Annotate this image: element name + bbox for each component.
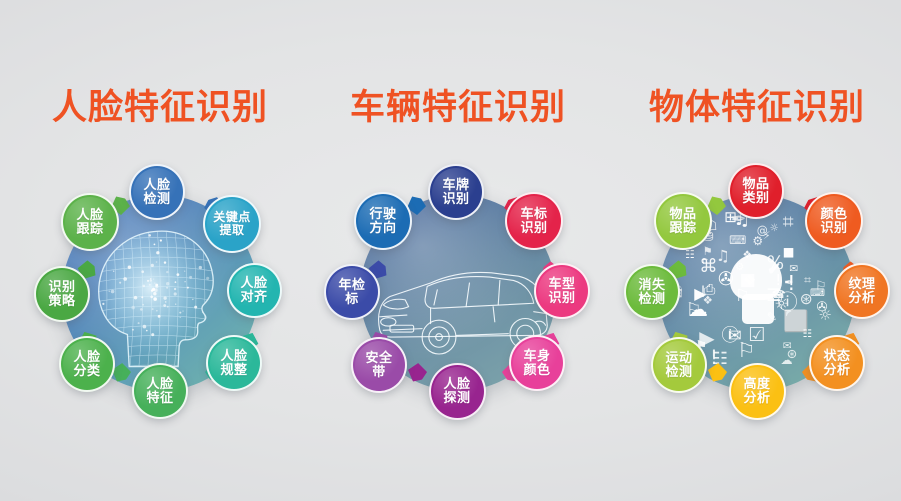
bubble-vehicle-1[interactable]: 行驶 方向 xyxy=(354,192,412,250)
bubble-object-1[interactable]: 物品 跟踪 xyxy=(654,192,712,250)
bubble-label: 车型 识别 xyxy=(546,277,577,305)
bubble-vehicle-3[interactable]: 年检 标 xyxy=(324,264,380,320)
bubble-label: 车牌 识别 xyxy=(440,178,471,206)
cloud-glyph: ☼ xyxy=(770,224,779,234)
bubble-object-5[interactable]: 运动 检测 xyxy=(651,337,707,393)
cloud-glyph: ⊛ xyxy=(800,291,813,307)
bubble-label: 人脸 跟踪 xyxy=(74,208,105,236)
bubble-face-3[interactable]: 识别 策略 xyxy=(34,266,90,322)
bubble-label: 车标 识别 xyxy=(518,207,549,235)
bubble-label: 车身 颜色 xyxy=(521,349,552,377)
bubble-label: 人脸 特征 xyxy=(144,377,175,405)
bubble-object-6[interactable]: 状态 分析 xyxy=(809,335,865,391)
bubble-vehicle-0[interactable]: 车牌 识别 xyxy=(428,164,484,220)
bubble-label: 物品 跟踪 xyxy=(667,207,698,235)
cloud-glyph: ♫ xyxy=(716,249,730,264)
bubble-label: 物品 类别 xyxy=(740,177,771,205)
cloud-glyph: ■ xyxy=(783,246,795,258)
bubble-label: 消失 检测 xyxy=(636,278,667,306)
cloud-glyph: ☷ xyxy=(685,250,695,261)
cloud-glyph: ☼ xyxy=(774,296,788,312)
cloud-glyph: ✉ xyxy=(728,328,742,345)
cloud-glyph: ⚡ xyxy=(763,231,771,242)
bubble-face-1[interactable]: 人脸 跟踪 xyxy=(61,193,119,251)
bubble-label: 人脸 检测 xyxy=(141,178,172,206)
bubble-object-2[interactable]: 颜色 识别 xyxy=(805,192,863,250)
cloud-glyph: ⎙ xyxy=(704,283,715,297)
cloud-glyph: ⌨ xyxy=(729,235,746,247)
cloud-glyph: ▶ xyxy=(699,328,714,348)
bubble-label: 高度 分析 xyxy=(741,377,772,405)
cluster-title-vehicle: 车辆特征识别 xyxy=(308,90,608,125)
cloud-glyph: ✉ xyxy=(783,341,792,352)
cloud-glyph: ⌗ xyxy=(804,274,811,287)
bubble-face-2[interactable]: 关键点 提取 xyxy=(203,195,261,253)
bubble-label: 纹理 分析 xyxy=(846,277,877,305)
bubble-face-5[interactable]: 人脸 分类 xyxy=(59,336,115,392)
infographic-stage: 人脸特征识别人脸 检测人脸 跟踪关键点 提取识别 策略人脸 对齐人脸 分类人脸 … xyxy=(0,0,901,501)
cloud-glyph: ☁ xyxy=(780,354,792,366)
bubble-label: 安全 带 xyxy=(363,351,394,379)
bubble-vehicle-6[interactable]: 车身 颜色 xyxy=(509,335,565,391)
cloud-glyph: ☷ xyxy=(803,329,812,340)
bubble-label: 人脸 对齐 xyxy=(238,276,269,304)
bubble-face-4[interactable]: 人脸 对齐 xyxy=(227,263,282,318)
bubble-label: 关键点 提取 xyxy=(211,211,253,237)
cluster-title-face: 人脸特征识别 xyxy=(10,90,310,125)
bubble-face-6[interactable]: 人脸 规整 xyxy=(206,335,262,391)
bubble-label: 人脸 探测 xyxy=(441,377,472,405)
bubble-vehicle-5[interactable]: 安全 带 xyxy=(351,337,407,393)
bubble-label: 状态 分析 xyxy=(821,349,852,377)
bubble-object-3[interactable]: 消失 检测 xyxy=(624,264,680,320)
bubble-label: 年检 标 xyxy=(336,278,367,306)
bubble-label: 人脸 分类 xyxy=(71,350,102,378)
bubble-face-0[interactable]: 人脸 检测 xyxy=(129,164,185,220)
cloud-glyph: ⌗ xyxy=(783,212,794,231)
bubble-label: 识别 策略 xyxy=(46,280,77,308)
bubble-label: 运动 检测 xyxy=(663,351,694,379)
bubble-object-0[interactable]: 物品 类别 xyxy=(728,163,784,219)
bubble-vehicle-4[interactable]: 车型 识别 xyxy=(534,263,590,319)
bubble-vehicle-7[interactable]: 人脸 探测 xyxy=(429,363,486,420)
bubble-vehicle-2[interactable]: 车标 识别 xyxy=(505,192,563,250)
cluster-title-object: 物体特征识别 xyxy=(607,90,901,125)
cloud-glyph: ⚙ xyxy=(752,235,763,247)
bubble-object-4[interactable]: 纹理 分析 xyxy=(834,263,890,319)
bubble-label: 人脸 规整 xyxy=(218,349,249,377)
bubble-label: 行驶 方向 xyxy=(367,207,398,235)
cloud-glyph: ⌗ xyxy=(702,256,708,267)
bubble-object-7[interactable]: 高度 分析 xyxy=(729,363,786,420)
bubble-face-7[interactable]: 人脸 特征 xyxy=(132,363,188,419)
bubble-label: 颜色 识别 xyxy=(818,207,849,235)
cloud-center-shape-2 xyxy=(742,294,774,324)
cloud-glyph: ☼ xyxy=(818,308,831,323)
